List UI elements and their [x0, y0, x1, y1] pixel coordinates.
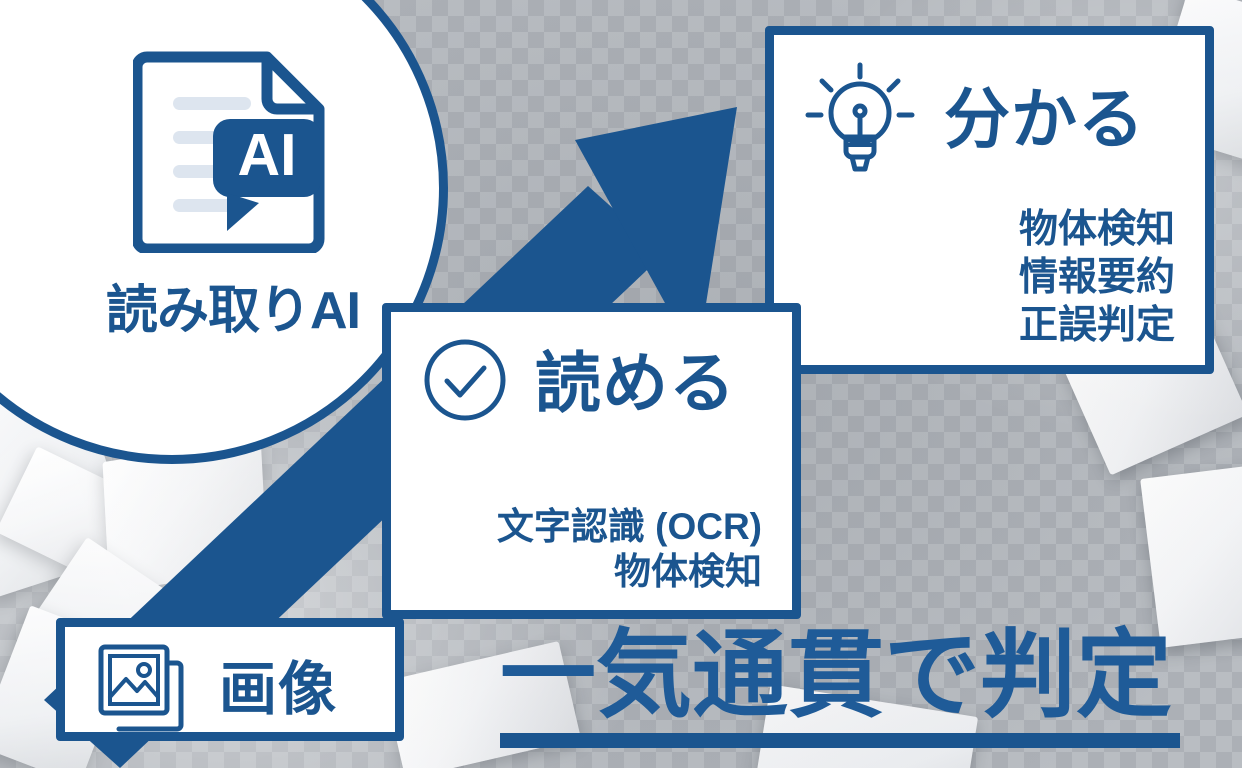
image-stack-icon	[93, 639, 189, 740]
panel-wakaru-items: 物体検知 情報要約 正誤判定	[1019, 205, 1175, 349]
lightbulb-icon	[802, 57, 918, 180]
headline-underline-rule	[500, 733, 1180, 748]
read-ai-circle-callout: AI 読み取りAI	[0, 0, 448, 464]
read-ai-label: 読み取りAI	[106, 268, 360, 343]
panel-yomeru-header: 読める	[391, 312, 792, 429]
check-circle-icon	[421, 336, 509, 429]
panel-yomeru-item: 物体検知	[497, 550, 762, 594]
panel-yomeru[interactable]: 読める 文字認識 (OCR) 物体検知	[382, 303, 801, 619]
panel-gazou[interactable]: 画像	[56, 618, 404, 741]
panel-yomeru-items: 文字認識 (OCR) 物体検知	[497, 503, 762, 594]
headline-text: 一気通貫で判定	[500, 628, 1190, 724]
headline: 一気通貫で判定	[500, 628, 1190, 724]
panel-gazou-title: 画像	[219, 661, 337, 719]
panel-wakaru-title: 分かる	[944, 86, 1145, 152]
panel-wakaru-item: 物体検知	[1019, 207, 1175, 253]
panel-yomeru-title: 読める	[535, 350, 736, 416]
svg-text:AI: AI	[238, 122, 297, 188]
infographic-canvas: AI 読み取りAI	[0, 0, 1242, 768]
panel-wakaru[interactable]: 分かる 物体検知 情報要約 正誤判定	[765, 26, 1214, 374]
panel-wakaru-header: 分かる	[774, 35, 1205, 180]
panel-wakaru-item: 情報要約	[1019, 255, 1175, 301]
panel-wakaru-item: 正誤判定	[1019, 303, 1175, 349]
ai-document-icon: AI	[133, 43, 333, 258]
panel-yomeru-item: 文字認識 (OCR)	[497, 505, 762, 549]
panel-gazou-header: 画像	[65, 627, 395, 740]
